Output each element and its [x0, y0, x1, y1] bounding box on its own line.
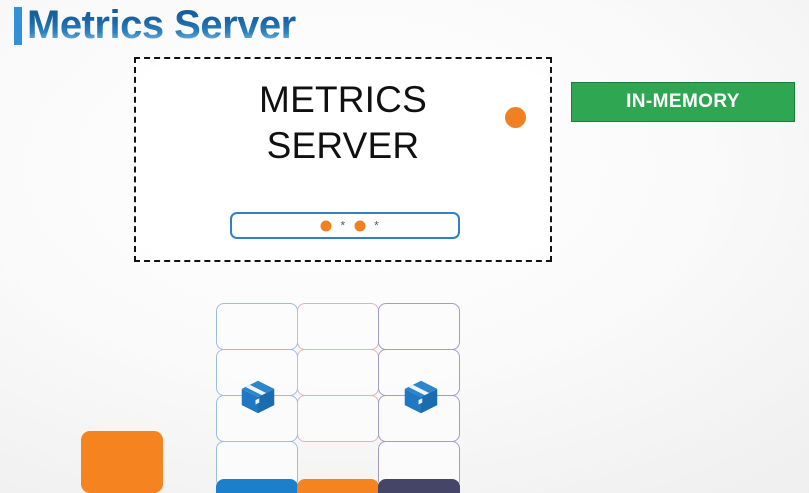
cell-2-1: [297, 303, 379, 350]
cell-2-5: [297, 479, 379, 493]
node-column-2: [297, 303, 379, 493]
package-box-icon-right: [401, 377, 441, 417]
data-point-star-2: *: [374, 220, 379, 231]
package-box-icon-left: [238, 377, 278, 417]
metrics-server-panel: METRICS SERVER * *: [134, 57, 552, 262]
slide-canvas: Metrics Server METRICS SERVER * * IN-MEM…: [0, 0, 809, 493]
cell-1-5: [216, 479, 298, 493]
cell-2-4: [81, 431, 163, 493]
cell-3-5: [378, 479, 460, 493]
cell-1-1: [216, 303, 298, 350]
cell-2-2: [297, 349, 379, 396]
in-memory-badge: IN-MEMORY: [571, 82, 795, 122]
metrics-server-label: METRICS SERVER: [136, 77, 550, 169]
metrics-data-bar: * *: [230, 212, 460, 239]
cell-3-1: [378, 303, 460, 350]
status-dot-icon: [505, 107, 526, 128]
metrics-data-bar-items: * *: [320, 220, 378, 231]
title-accent-bar: [14, 7, 22, 45]
page-title: Metrics Server: [14, 2, 296, 48]
metrics-server-label-line1: METRICS: [259, 79, 427, 120]
data-point-dot-2: [354, 220, 365, 231]
data-point-star-1: *: [340, 220, 345, 231]
node-grid: [216, 303, 460, 493]
data-point-dot-1: [320, 220, 331, 231]
cell-2-3: [297, 395, 379, 442]
metrics-server-label-line2: SERVER: [136, 123, 550, 169]
title-text: Metrics Server: [27, 2, 296, 48]
